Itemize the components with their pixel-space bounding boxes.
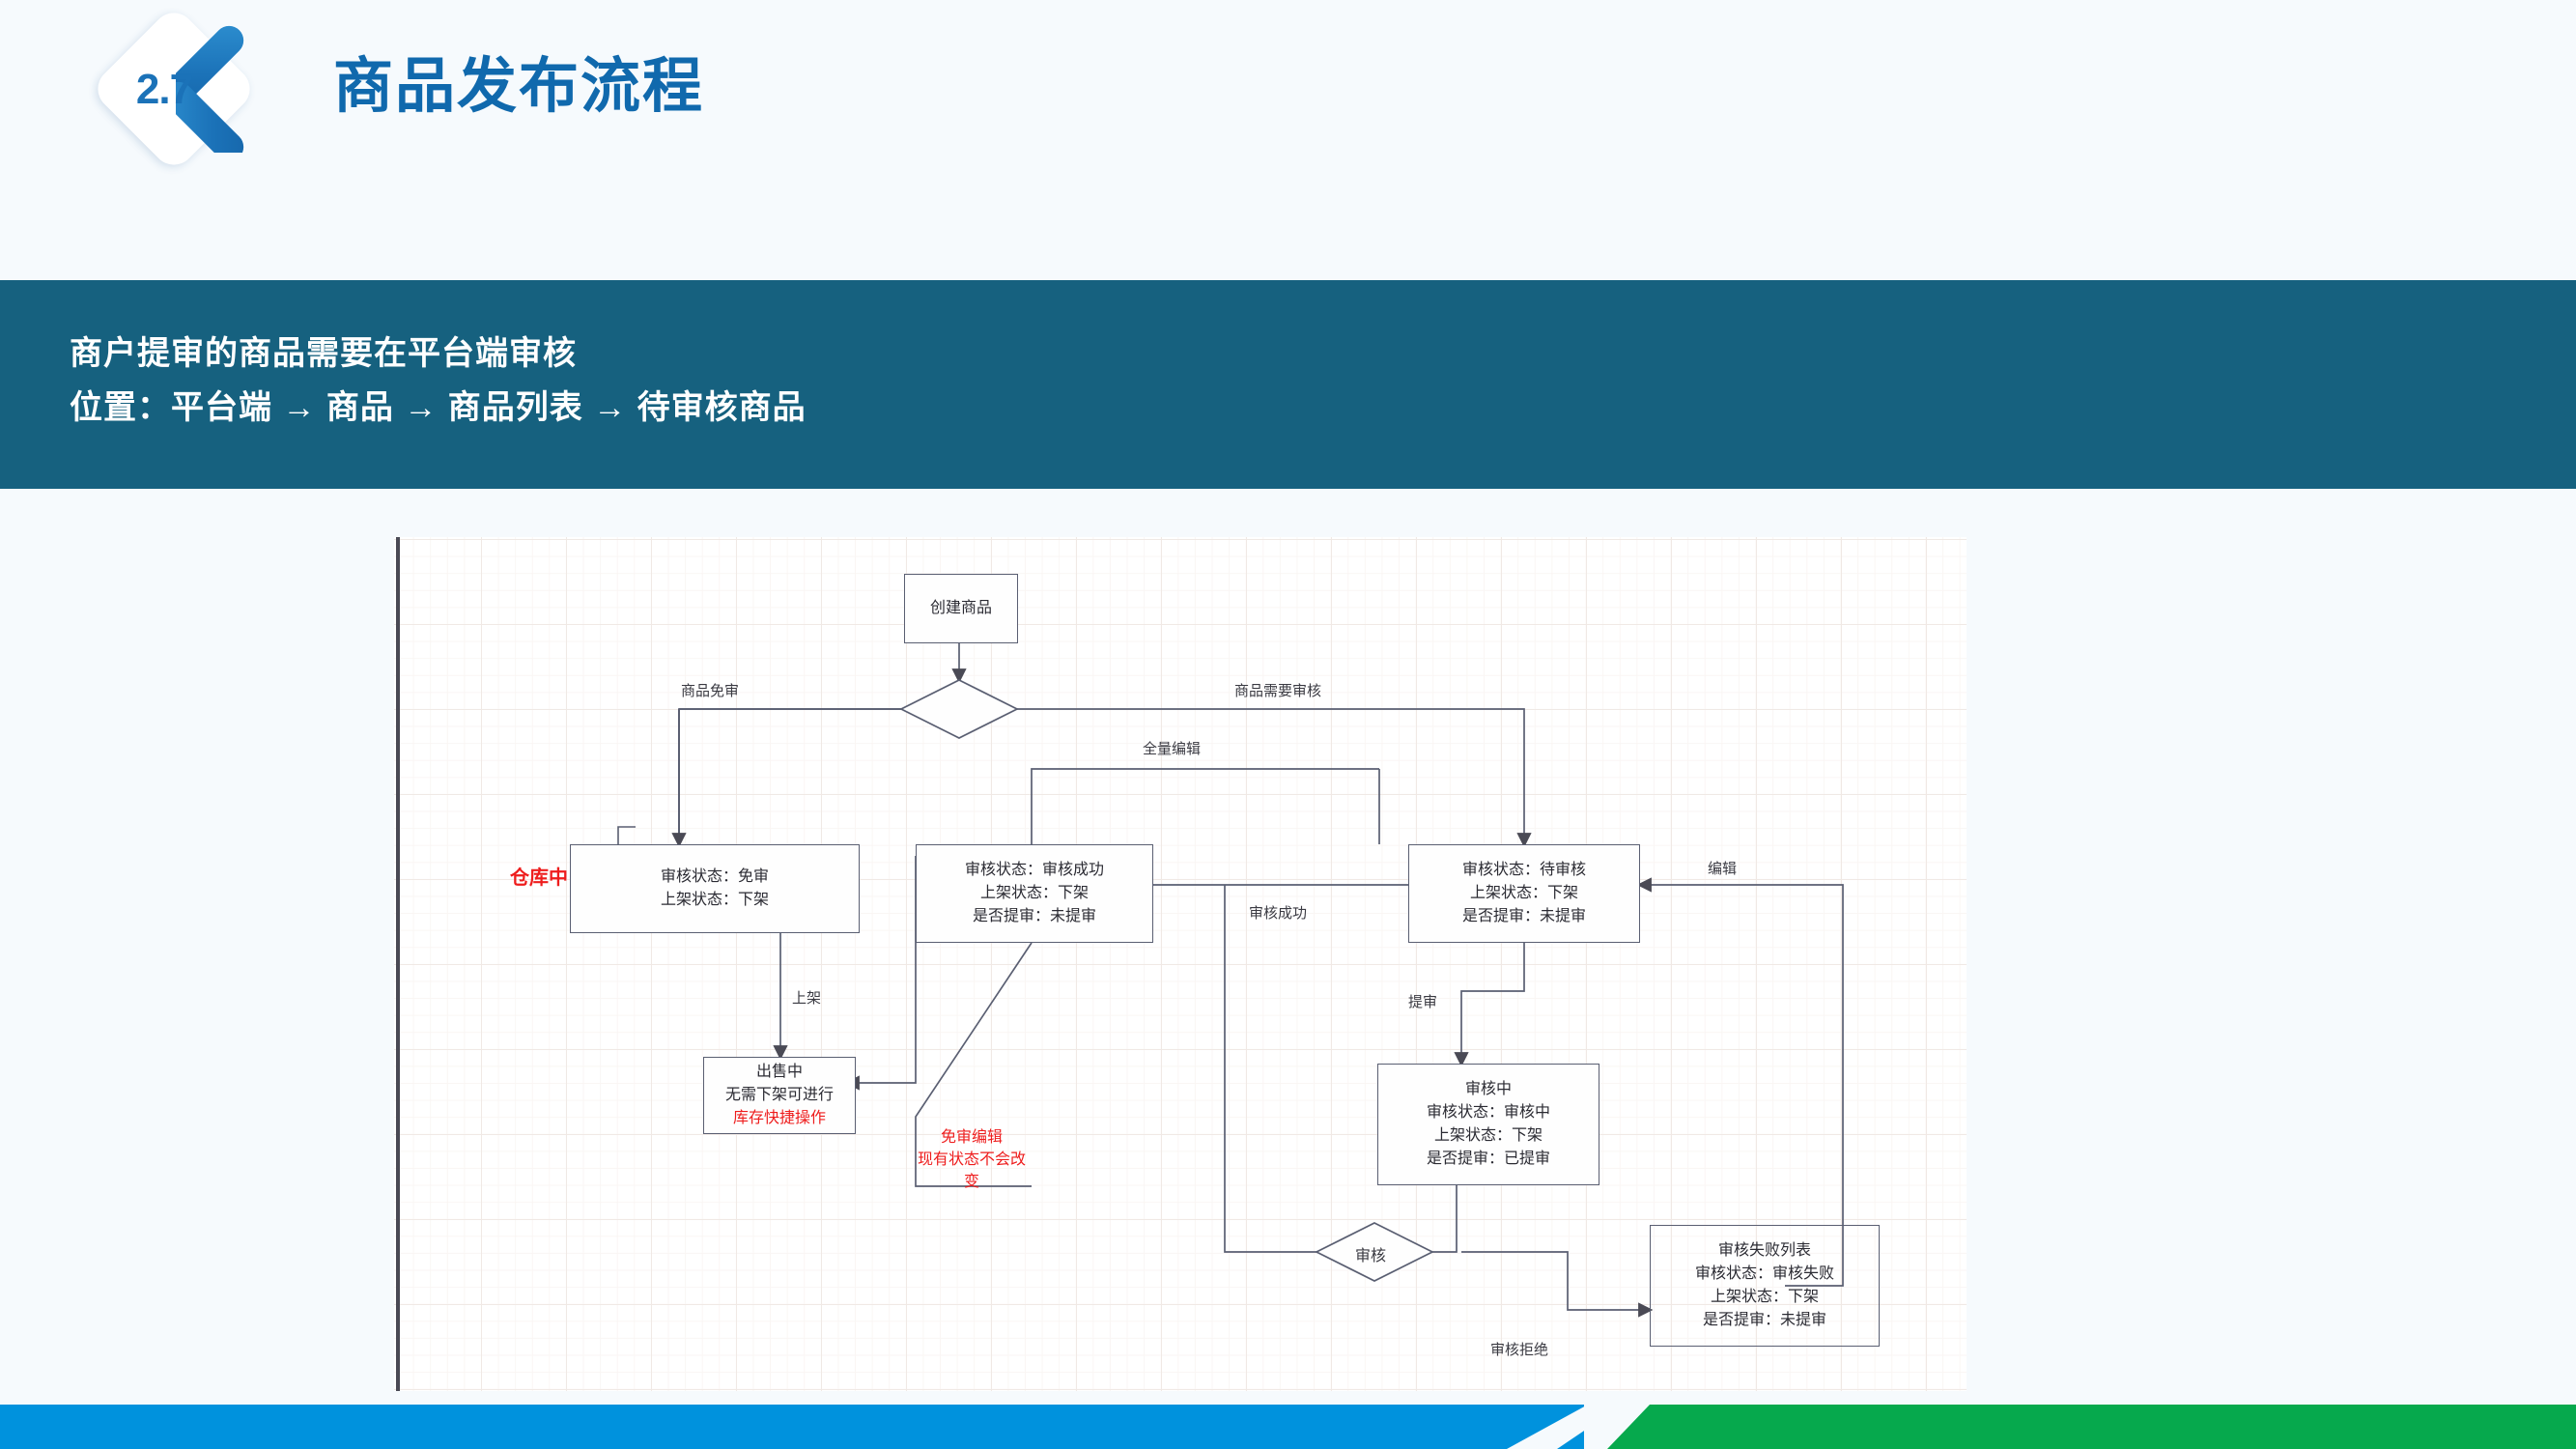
node-line-1: 审核中 <box>1465 1078 1512 1101</box>
exempt-edit-annotation: 免审编辑 现有状态不会改 变 <box>904 1126 1039 1194</box>
node-line-1: 审核失败列表 <box>1718 1239 1811 1263</box>
node-line-4: 是否提审：已提审 <box>1427 1148 1550 1171</box>
node-line-1: 审核状态：待审核 <box>1462 859 1586 882</box>
banner-line-2: 位置：平台端 → 商品 → 商品列表 → 待审核商品 <box>70 381 807 428</box>
annotation-line-2: 现有状态不会改 <box>904 1149 1039 1171</box>
footer-green-bar <box>1607 1405 2576 1449</box>
edge-label-full-edit: 全量编辑 <box>1143 738 1201 758</box>
node-review-failed-list[interactable]: 审核失败列表 审核状态：审核失败 上架状态：下架 是否提审：未提审 <box>1650 1225 1880 1347</box>
badge-number: 2.7 <box>104 66 224 114</box>
node-line-3: 是否提审：未提审 <box>973 905 1096 928</box>
node-line-1: 审核状态：审核成功 <box>965 859 1104 882</box>
edge-label-exempt-branch: 商品免审 <box>681 680 739 700</box>
edge-label-publish: 上架 <box>792 987 821 1008</box>
node-line-3: 库存快捷操作 <box>733 1107 826 1130</box>
info-banner: 商户提审的商品需要在平台端审核 位置：平台端 → 商品 → 商品列表 → 待审核… <box>0 280 2576 489</box>
edge-label-edit: 编辑 <box>1708 858 1737 878</box>
node-on-sale[interactable]: 出售中 无需下架可进行 库存快捷操作 <box>703 1057 856 1134</box>
node-review-approved-status[interactable]: 审核状态：审核成功 上架状态：下架 是否提审：未提审 <box>916 844 1153 943</box>
edge-label-submit-review: 提审 <box>1408 991 1437 1011</box>
warehouse-brace-label: 仓库中 <box>510 862 568 890</box>
node-create-product[interactable]: 创建商品 <box>904 574 1018 643</box>
footer-blue-bar <box>0 1405 1584 1449</box>
node-label: 创建商品 <box>930 597 992 620</box>
node-line-2: 审核状态：审核中 <box>1427 1101 1550 1124</box>
node-exempt-status[interactable]: 审核状态：免审 上架状态：下架 <box>570 844 860 933</box>
section-number-badge: 2.7 <box>97 17 270 172</box>
node-line-3: 上架状态：下架 <box>1711 1286 1819 1309</box>
node-line-4: 是否提审：未提审 <box>1703 1309 1826 1332</box>
edge-label-review-reject: 审核拒绝 <box>1490 1339 1548 1359</box>
banner-line-1: 商户提审的商品需要在平台端审核 <box>70 327 577 374</box>
node-decision-review-label: 审核 <box>1355 1242 1386 1265</box>
annotation-line-3: 变 <box>904 1171 1039 1193</box>
node-line-3: 上架状态：下架 <box>1434 1124 1543 1148</box>
node-reviewing-status[interactable]: 审核中 审核状态：审核中 上架状态：下架 是否提审：已提审 <box>1377 1064 1599 1185</box>
annotation-line-1: 免审编辑 <box>904 1126 1039 1149</box>
node-line-1: 出售中 <box>756 1061 803 1084</box>
page-header: 2.7 商品发布流程 <box>0 0 2576 193</box>
node-line-2: 上架状态：下架 <box>661 889 769 912</box>
edge-label-review-branch: 商品需要审核 <box>1234 680 1321 700</box>
flowchart-canvas: 创建商品 审核状态：免审 上架状态：下架 审核状态：审核成功 上架状态：下架 是… <box>394 537 1967 1391</box>
node-line-1: 审核状态：免审 <box>661 866 769 889</box>
node-line-2: 审核状态：审核失败 <box>1695 1263 1834 1286</box>
edge-label-review-success: 审核成功 <box>1249 902 1307 923</box>
node-line-2: 无需下架可进行 <box>725 1084 834 1107</box>
node-line-2: 上架状态：下架 <box>1470 882 1578 905</box>
node-line-2: 上架状态：下架 <box>980 882 1089 905</box>
node-line-3: 是否提审：未提审 <box>1462 905 1586 928</box>
page-title: 商品发布流程 <box>333 37 704 124</box>
node-pending-review-status[interactable]: 审核状态：待审核 上架状态：下架 是否提审：未提审 <box>1408 844 1640 943</box>
page-footer <box>0 1405 2576 1449</box>
